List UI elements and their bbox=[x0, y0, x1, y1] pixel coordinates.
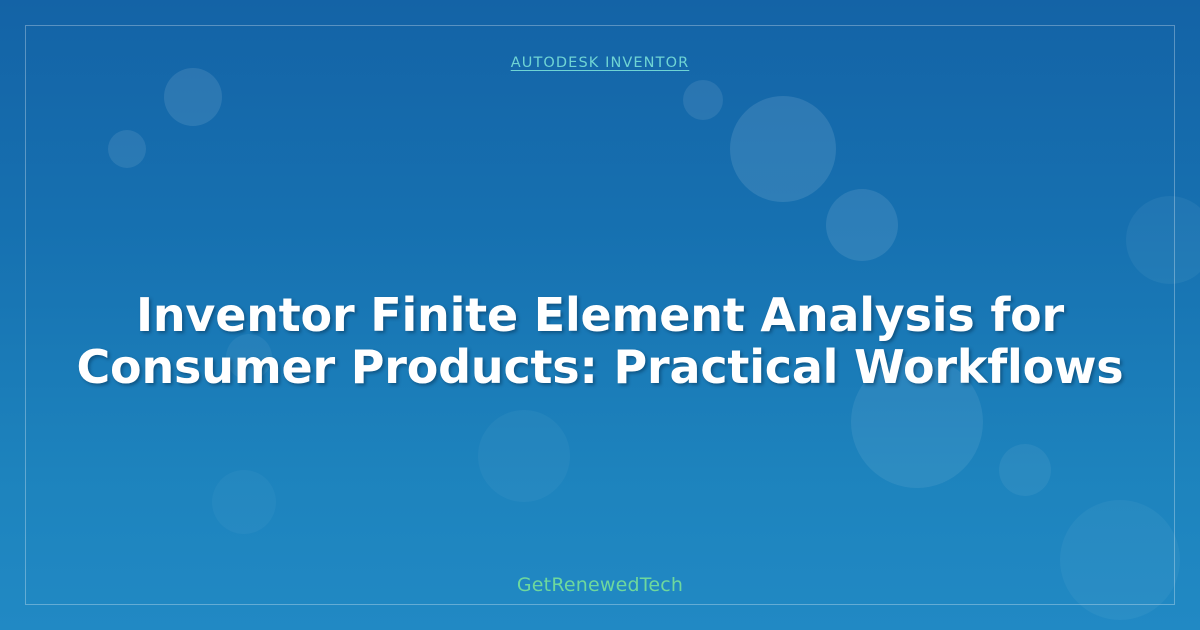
category-eyebrow-label[interactable]: AUTODESK INVENTOR bbox=[511, 55, 690, 71]
page-title: Inventor Finite Element Analysis for Con… bbox=[70, 289, 1130, 393]
social-share-banner: AUTODESK INVENTOR Inventor Finite Elemen… bbox=[0, 0, 1200, 630]
banner-content: AUTODESK INVENTOR Inventor Finite Elemen… bbox=[0, 0, 1200, 630]
title-block: Inventor Finite Element Analysis for Con… bbox=[0, 258, 1200, 424]
site-brand-footer: GetRenewedTech bbox=[0, 574, 1200, 596]
